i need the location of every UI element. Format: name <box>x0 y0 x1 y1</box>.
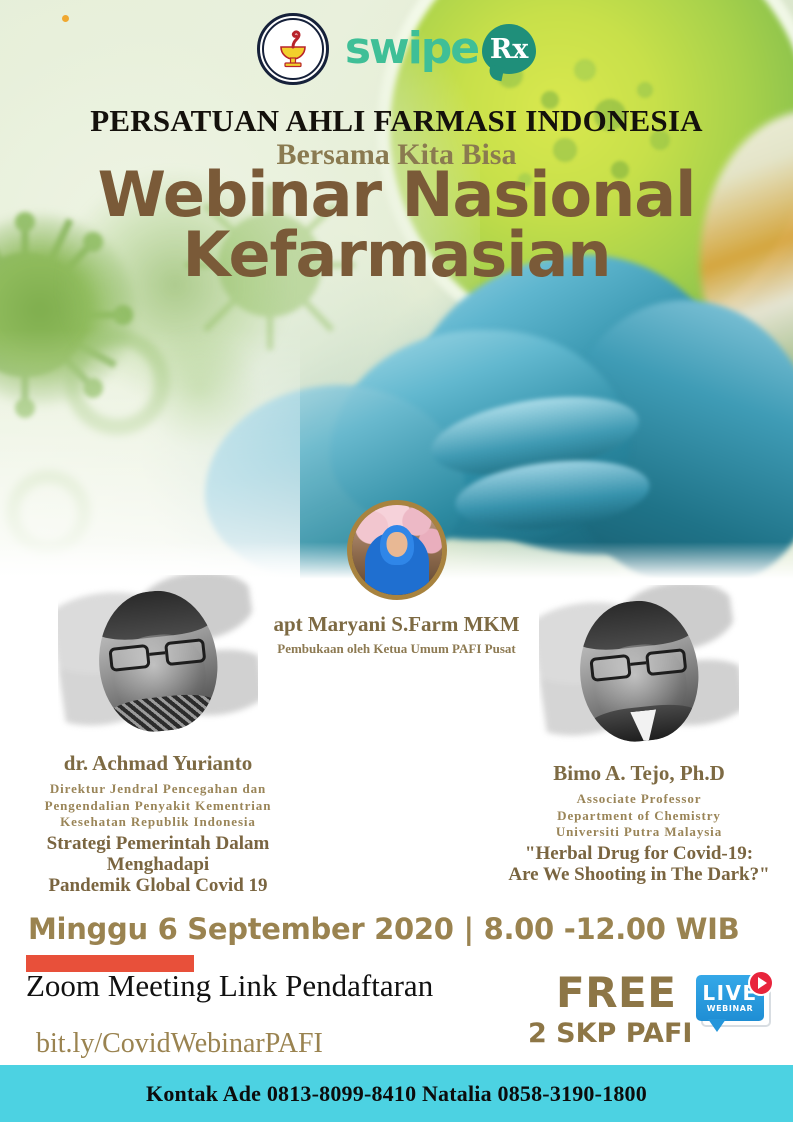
speaker-right-affiliation-line-2: Department of Chemistry <box>489 808 789 825</box>
speaker-right-topic-line-2: Are We Shooting in The Dark?" <box>489 864 789 885</box>
portrait-head <box>573 595 705 747</box>
event-platform-line: Zoom Meeting Link Pendaftaran <box>26 968 433 1004</box>
pafi-logo-icon <box>257 13 329 85</box>
live-badge-webinar-label: WEBINAR <box>707 1005 754 1013</box>
speaker-left-topic-line-1: Strategi Pemerintah Dalam Menghadapi <box>8 833 308 876</box>
speaker-left-portrait <box>58 575 258 745</box>
price-label: FREE <box>556 968 676 1017</box>
swipe-dot-icon <box>62 15 69 22</box>
speaker-right: Bimo A. Tejo, Ph.D Associate Professor D… <box>489 585 789 885</box>
speaker-left-affiliation: Direktur Jendral Pencegahan dan Pengenda… <box>8 781 308 831</box>
glasses-bridge <box>630 661 646 666</box>
speaker-right-topic: "Herbal Drug for Covid-19: Are We Shooti… <box>489 843 789 886</box>
page-title: Webinar Nasional Kefarmasian <box>0 165 793 285</box>
speaker-right-topic-line-1: "Herbal Drug for Covid-19: <box>489 843 789 864</box>
speaker-right-portrait <box>539 585 739 755</box>
logo-row: swipe Rx <box>0 10 793 88</box>
swiperx-logo: swipe Rx <box>345 24 536 74</box>
registration-link[interactable]: bit.ly/CovidWebinarPAFI <box>36 1028 323 1060</box>
glasses-lens-left <box>589 654 631 682</box>
play-button-icon <box>748 970 774 996</box>
speaker-left-affiliation-line-2: Pengendalian Penyakit Kementrian <box>8 798 308 815</box>
credits-label: 2 SKP PAFI <box>528 1018 692 1049</box>
rx-bubble-icon: Rx <box>482 24 536 74</box>
swipe-wordmark: swipe <box>345 27 478 71</box>
organization-name: PERSATUAN AHLI FARMASI INDONESIA <box>0 103 793 139</box>
speaker-left-topic-line-2: Pandemik Global Covid 19 <box>8 875 308 896</box>
contact-text: Kontak Ade 0813-8099-8410 Natalia 0858-3… <box>146 1081 647 1107</box>
speaker-right-affiliation-line-1: Associate Professor <box>489 791 789 808</box>
webinar-poster: swipe Rx PERSATUAN AHLI FARMASI INDONESI… <box>0 0 793 1122</box>
title-line-2: Kefarmasian <box>0 225 793 285</box>
speaker-left-affiliation-line-1: Direktur Jendral Pencegahan dan <box>8 781 308 798</box>
speaker-right-affiliation: Associate Professor Department of Chemis… <box>489 791 789 841</box>
event-date-time: Minggu 6 September 2020 | 8.00 -12.00 WI… <box>28 912 739 946</box>
glasses-bridge <box>149 651 165 656</box>
portrait-head <box>92 585 224 737</box>
speaker-right-name: Bimo A. Tejo, Ph.D <box>489 761 789 786</box>
speaker-left-topic: Strategi Pemerintah Dalam Menghadapi Pan… <box>8 833 308 897</box>
glasses-lens-left <box>108 644 150 672</box>
speaker-left-name: dr. Achmad Yurianto <box>8 751 308 776</box>
speaker-left-affiliation-line-3: Kesehatan Republik Indonesia <box>8 814 308 831</box>
pafi-bowl-of-hygieia-icon <box>271 27 315 71</box>
speaker-right-affiliation-line-3: Universiti Putra Malaysia <box>489 824 789 841</box>
glasses-lens-right <box>645 648 687 676</box>
contact-bar: Kontak Ade 0813-8099-8410 Natalia 0858-3… <box>0 1065 793 1122</box>
rx-label: Rx <box>490 36 529 63</box>
speaker-left: dr. Achmad Yurianto Direktur Jendral Pen… <box>8 575 308 897</box>
live-webinar-badge: LIVE WEBINAR <box>694 972 776 1042</box>
glasses-lens-right <box>164 638 206 666</box>
avatar <box>347 500 447 600</box>
avatar-face <box>386 532 407 557</box>
